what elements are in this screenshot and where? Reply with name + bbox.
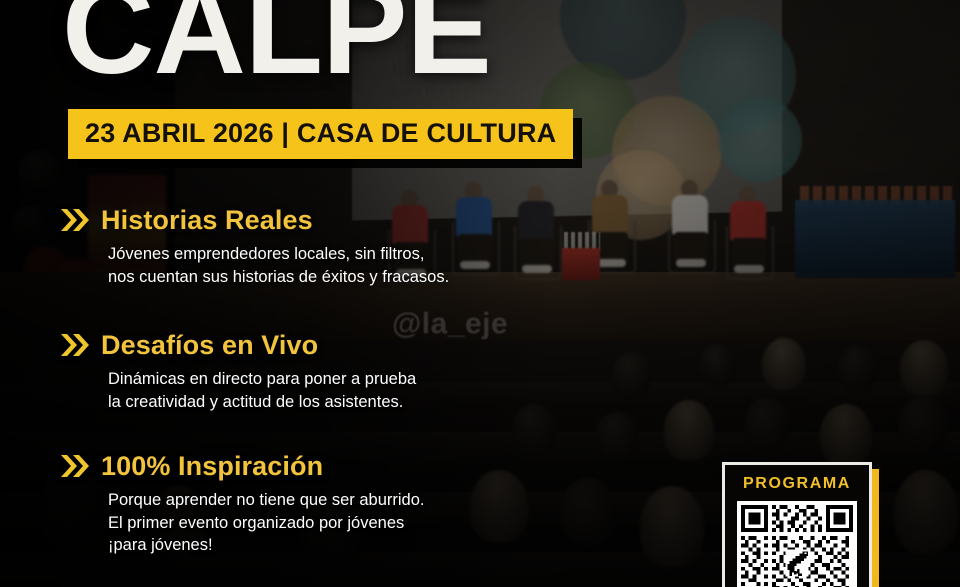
programa-qr-panel[interactable]: PROGRAMA <box>722 462 872 587</box>
feature-description: Jóvenes emprendedores locales, sin filtr… <box>60 243 590 288</box>
feature-title: 100% Inspiración <box>101 452 323 480</box>
feature-description: Dinámicas en directo para poner a prueba… <box>60 368 590 413</box>
feature-heading-row: Historias Reales <box>60 206 590 234</box>
feature-heading-row: Desafíos en Vivo <box>60 331 590 359</box>
qr-code-icon[interactable] <box>737 501 857 587</box>
feature-title: Desafíos en Vivo <box>101 331 318 359</box>
double-chevron-right-icon <box>60 332 90 358</box>
feature-heading-row: 100% Inspiración <box>60 452 590 480</box>
double-chevron-right-icon <box>60 207 90 233</box>
page-title: CALPE <box>62 0 491 94</box>
double-chevron-right-icon <box>60 453 90 479</box>
event-poster: Habilidades para los jóvenes <box>0 0 960 587</box>
feature-historias-reales: Historias Reales Jóvenes emprendedores l… <box>60 206 590 288</box>
feature-100-inspiracion: 100% Inspiración Porque aprender no tien… <box>60 452 590 557</box>
qr-panel-label: PROGRAMA <box>735 475 859 493</box>
feature-title: Historias Reales <box>101 206 313 234</box>
poster-content: CALPE 23 ABRIL 2026 | CASA DE CULTURA Hi… <box>0 0 960 587</box>
feature-description: Porque aprender no tiene que ser aburrid… <box>60 489 590 556</box>
feature-desafios-en-vivo: Desafíos en Vivo Dinámicas en directo pa… <box>60 331 590 413</box>
date-venue-banner: 23 ABRIL 2026 | CASA DE CULTURA <box>68 109 573 159</box>
